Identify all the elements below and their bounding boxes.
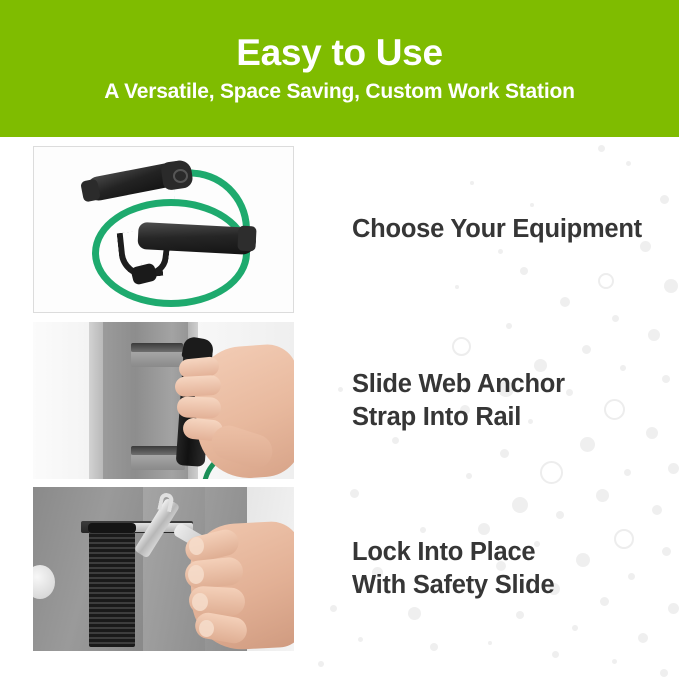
rail-slot-upper-icon <box>131 343 183 352</box>
rail-slot-upper-lip-icon <box>131 351 185 367</box>
page-subtitle: A Versatile, Space Saving, Custom Work S… <box>104 80 574 103</box>
handle-top-ring-icon <box>173 169 188 183</box>
step-caption-1: Choose Your Equipment <box>294 213 647 246</box>
black-webbing-strap-icon <box>89 527 135 647</box>
step-image-safety-slide <box>33 487 294 651</box>
wall-left-icon <box>33 322 89 479</box>
step-row-slide-web-anchor: Slide Web Anchor Strap Into Rail <box>33 322 647 479</box>
step-image-slide-strap-into-rail <box>33 322 294 479</box>
fingernail-icon <box>199 620 214 637</box>
product-feature-infographic: Easy to Use A Versatile, Space Saving, C… <box>0 0 679 679</box>
post-shadow-icon <box>89 322 103 479</box>
finger-icon <box>175 375 222 397</box>
handle-bottom-end-cap-icon <box>237 226 256 252</box>
step-row-lock-into-place: Lock Into Place With Safety Slide <box>33 487 647 651</box>
finger-icon <box>177 396 222 419</box>
rail-slot-lower-icon <box>131 446 183 455</box>
page-title: Easy to Use <box>236 34 442 73</box>
step-caption-2: Slide Web Anchor Strap Into Rail <box>294 368 647 433</box>
step-caption-3: Lock Into Place With Safety Slide <box>294 536 647 601</box>
fingernail-icon <box>189 537 204 555</box>
step-image-resistance-band <box>33 146 294 313</box>
fingernail-icon <box>188 565 204 584</box>
fingernail-icon <box>192 593 208 611</box>
header-banner: Easy to Use A Versatile, Space Saving, C… <box>0 0 679 137</box>
webbing-strap-top-icon <box>88 523 136 533</box>
step-row-choose-equipment: Choose Your Equipment <box>33 146 647 313</box>
